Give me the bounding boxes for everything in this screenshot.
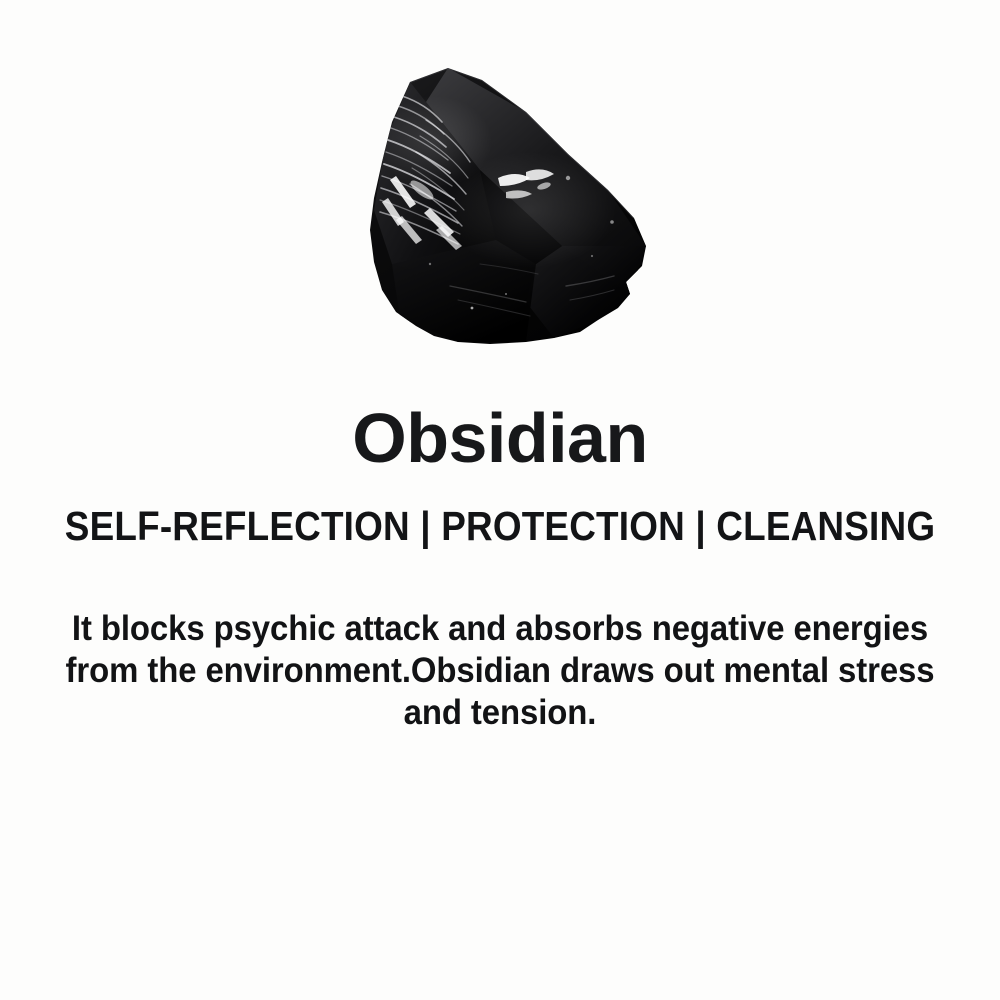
stone-body (330, 50, 690, 370)
crystal-description: It blocks psychic attack and absorbs neg… (49, 608, 951, 734)
stone-image-figure (0, 0, 1000, 400)
text-block: Obsidian SELF-REFLECTION | PROTECTION | … (0, 396, 1000, 734)
crystal-title: Obsidian (0, 396, 1000, 480)
crystal-info-card: Obsidian SELF-REFLECTION | PROTECTION | … (0, 0, 1000, 1000)
footer-whitespace (0, 790, 1000, 1000)
crystal-keywords: SELF-REFLECTION | PROTECTION | CLEANSING (50, 502, 950, 550)
obsidian-stone-photo (330, 50, 690, 370)
